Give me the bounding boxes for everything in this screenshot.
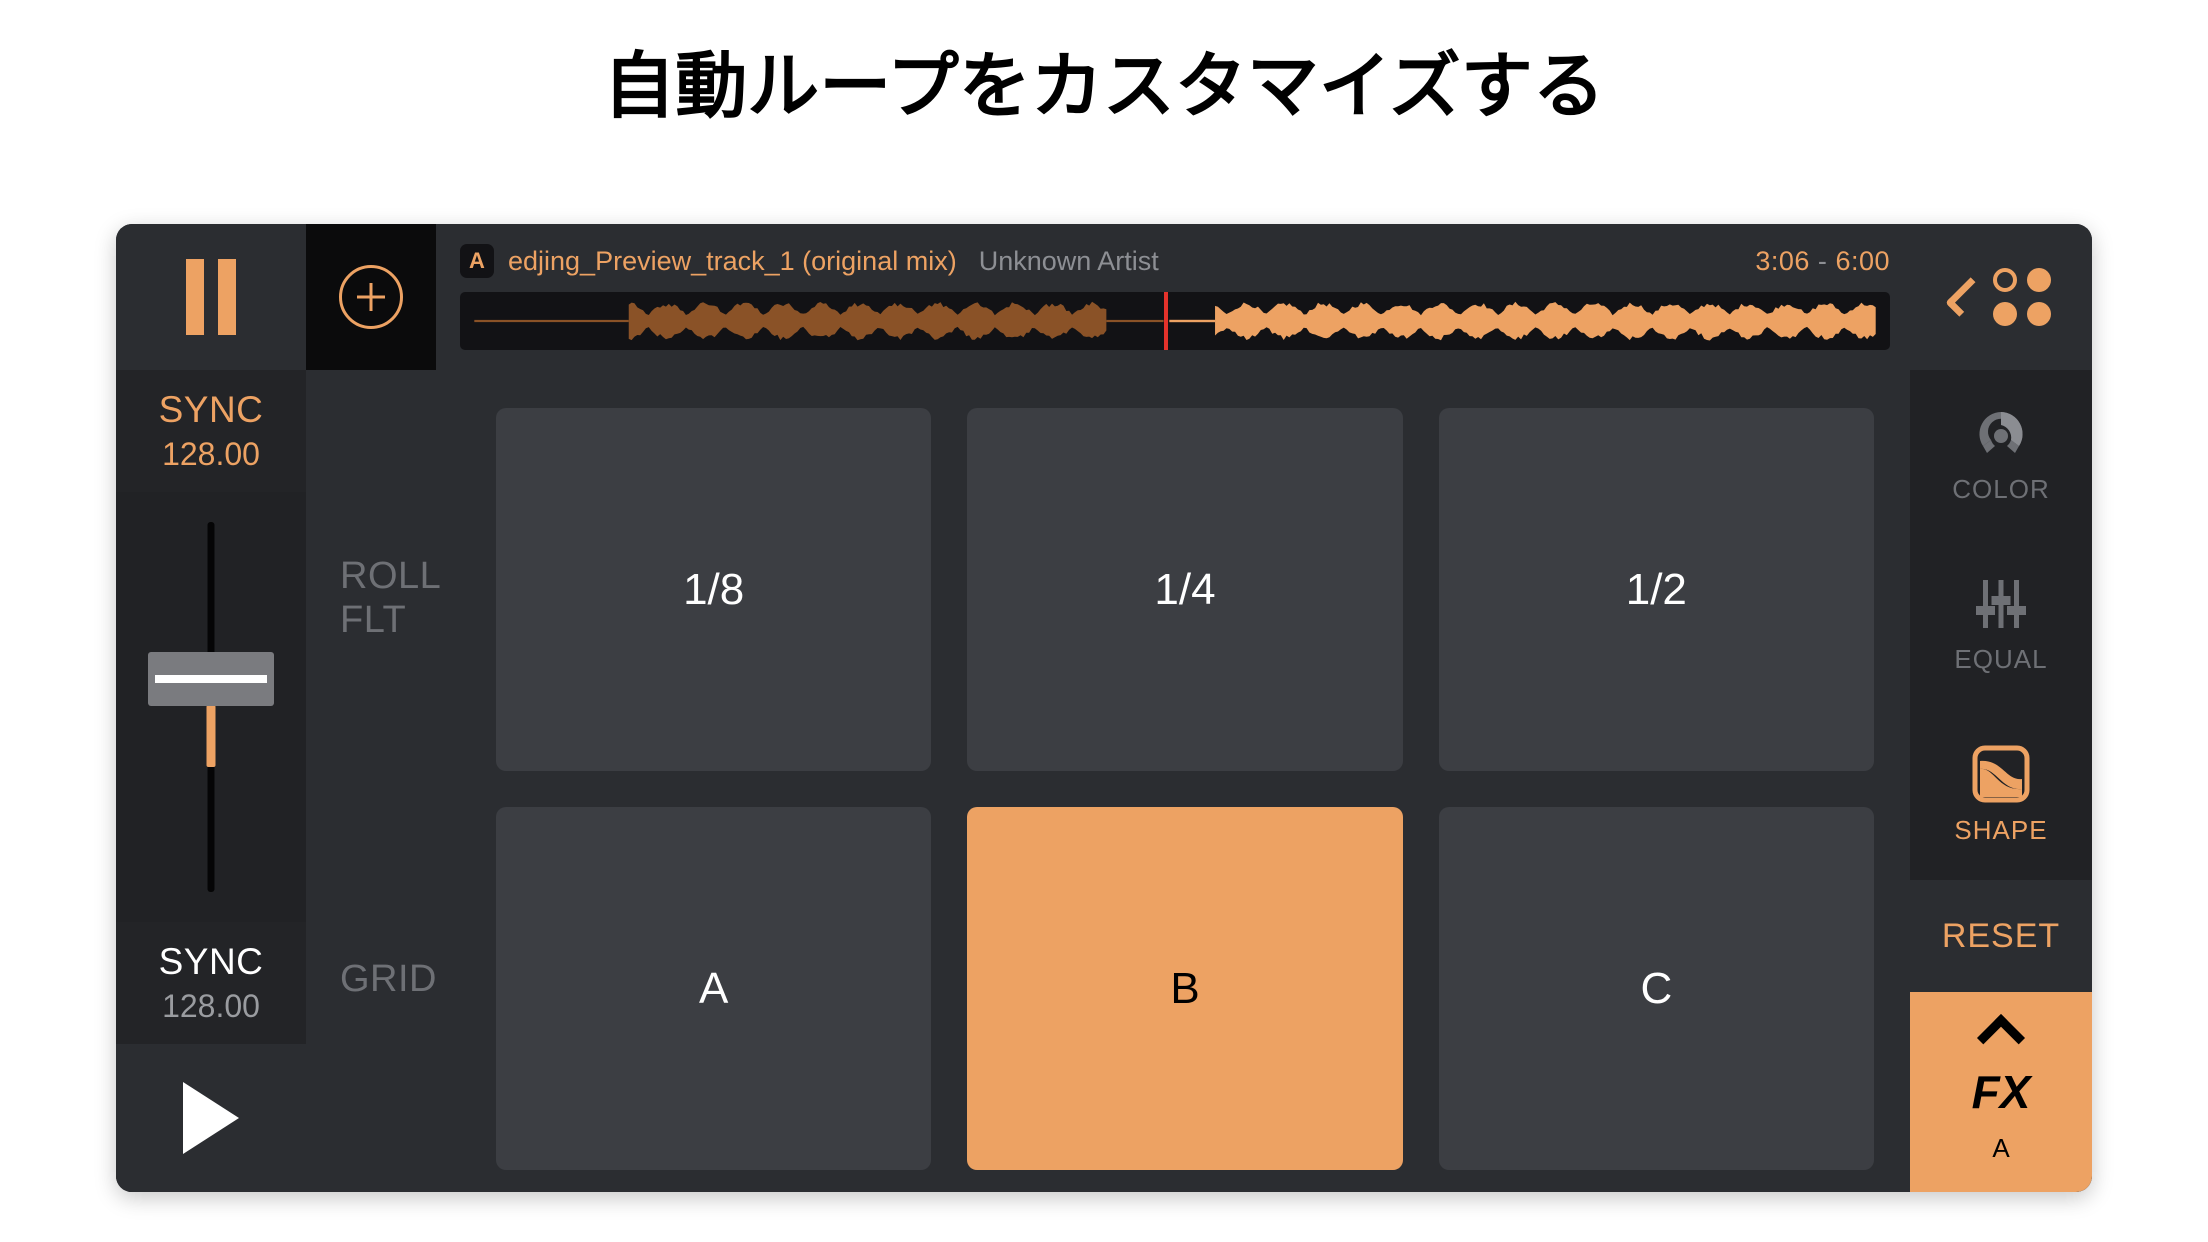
play-button[interactable] bbox=[116, 1044, 306, 1192]
track-info-panel: A edjing_Preview_track_1 (original mix) … bbox=[436, 224, 1914, 370]
sync-button-bottom[interactable]: SYNC 128.00 bbox=[116, 922, 306, 1044]
pad-row-labels: ROLLFLT GRID bbox=[306, 370, 496, 1192]
shape-wave-icon bbox=[1972, 745, 2030, 803]
row-label-grid-line1: GRID bbox=[340, 958, 437, 1002]
deck-badge: A bbox=[460, 244, 494, 278]
sync-top-label: SYNC bbox=[159, 389, 264, 431]
pad-row-label-roll: ROLLFLT bbox=[306, 408, 496, 789]
chevron-left-icon bbox=[1945, 277, 1985, 317]
fx-color-label: COLOR bbox=[1952, 474, 2049, 505]
left-rail: SYNC 128.00 SYNC 128.00 bbox=[116, 370, 306, 1192]
library-toggle-button[interactable] bbox=[1914, 224, 2092, 370]
row-label-roll-line2: FLT bbox=[340, 599, 406, 641]
pad-1-2[interactable]: 1/2 bbox=[1439, 408, 1874, 771]
track-artist: Unknown Artist bbox=[979, 246, 1159, 277]
track-elapsed: 3:06 bbox=[1755, 246, 1810, 276]
fx-shape-button[interactable]: SHAPE bbox=[1910, 710, 2092, 880]
pitch-fader[interactable] bbox=[116, 492, 306, 922]
playhead-marker bbox=[1164, 292, 1168, 350]
pitch-fader-handle[interactable] bbox=[148, 652, 274, 706]
fx-panel-button[interactable]: FX A bbox=[1910, 992, 2092, 1192]
pad-1-4[interactable]: 1/4 bbox=[967, 408, 1402, 771]
fx-color-button[interactable]: COLOR bbox=[1910, 370, 2092, 540]
color-knob-icon bbox=[1973, 406, 2029, 462]
track-meta-row: A edjing_Preview_track_1 (original mix) … bbox=[460, 240, 1890, 282]
fx-equal-button[interactable]: EQUAL bbox=[1910, 540, 2092, 710]
sync-bottom-label: SYNC bbox=[159, 941, 264, 983]
main-body: SYNC 128.00 SYNC 128.00 bbox=[116, 370, 2092, 1192]
pads-grid: 1/8 1/4 1/2 A B C bbox=[496, 370, 1910, 1192]
pad-row-label-grid: GRID bbox=[306, 789, 496, 1170]
fx-deck-label: A bbox=[1992, 1133, 2009, 1164]
row-label-roll-line1: ROLL bbox=[340, 555, 441, 597]
grid-dots-icon bbox=[1993, 268, 2051, 326]
dj-app-window: A edjing_Preview_track_1 (original mix) … bbox=[116, 224, 2092, 1192]
fx-button-label: FX bbox=[1972, 1065, 2031, 1119]
play-icon bbox=[183, 1082, 239, 1154]
add-track-button[interactable] bbox=[306, 224, 436, 370]
track-time: 3:06 - 6:00 bbox=[1755, 246, 1890, 277]
sync-top-bpm: 128.00 bbox=[162, 436, 260, 473]
fx-equal-label: EQUAL bbox=[1954, 644, 2047, 675]
track-duration: 6:00 bbox=[1835, 246, 1890, 276]
fx-rail: COLOR EQUAL bbox=[1910, 370, 2092, 1192]
pad-b[interactable]: B bbox=[967, 807, 1402, 1170]
pad-1-8[interactable]: 1/8 bbox=[496, 408, 931, 771]
waveform[interactable] bbox=[460, 292, 1890, 350]
sync-bottom-bpm: 128.00 bbox=[162, 988, 260, 1025]
chevron-up-icon bbox=[1977, 1013, 2025, 1061]
pad-c[interactable]: C bbox=[1439, 807, 1874, 1170]
pitch-fader-fill bbox=[207, 705, 216, 767]
screenshot-root: 自動ループをカスタマイズする A edjing_Preview_track_1 … bbox=[0, 0, 2208, 1242]
pause-icon bbox=[186, 259, 236, 335]
plus-circle-icon bbox=[339, 265, 403, 329]
track-title: edjing_Preview_track_1 (original mix) bbox=[508, 246, 957, 277]
track-time-separator: - bbox=[1818, 246, 1828, 276]
reset-button[interactable]: RESET bbox=[1910, 880, 2092, 992]
pads-section: ROLLFLT GRID 1/8 1/4 1/2 A B C bbox=[306, 370, 1910, 1192]
fx-shape-label: SHAPE bbox=[1954, 815, 2047, 846]
pause-button[interactable] bbox=[116, 224, 306, 370]
page-title: 自動ループをカスタマイズする bbox=[0, 48, 2208, 127]
waveform-graphic bbox=[460, 292, 1890, 350]
top-bar: A edjing_Preview_track_1 (original mix) … bbox=[116, 224, 2092, 370]
sync-button-top[interactable]: SYNC 128.00 bbox=[116, 370, 306, 492]
equalizer-icon bbox=[1972, 576, 2030, 632]
pad-a[interactable]: A bbox=[496, 807, 931, 1170]
